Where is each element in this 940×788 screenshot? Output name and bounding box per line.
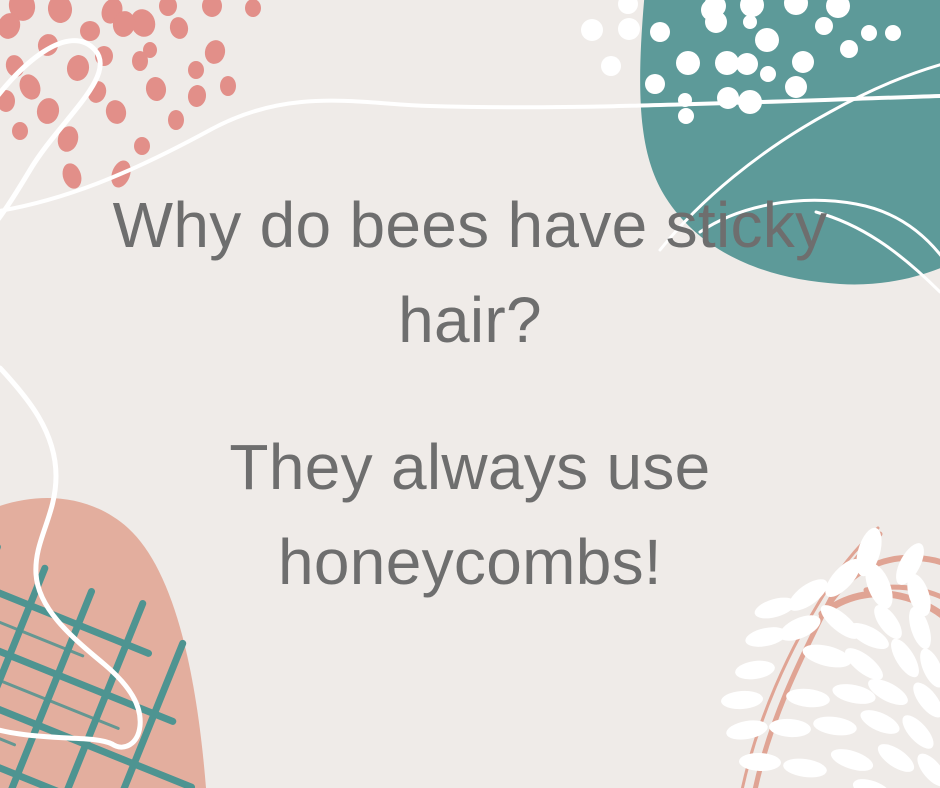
decorative-artwork (0, 0, 940, 788)
joke-graphic-canvas: Why do bees have sticky hair? They alway… (0, 0, 940, 788)
